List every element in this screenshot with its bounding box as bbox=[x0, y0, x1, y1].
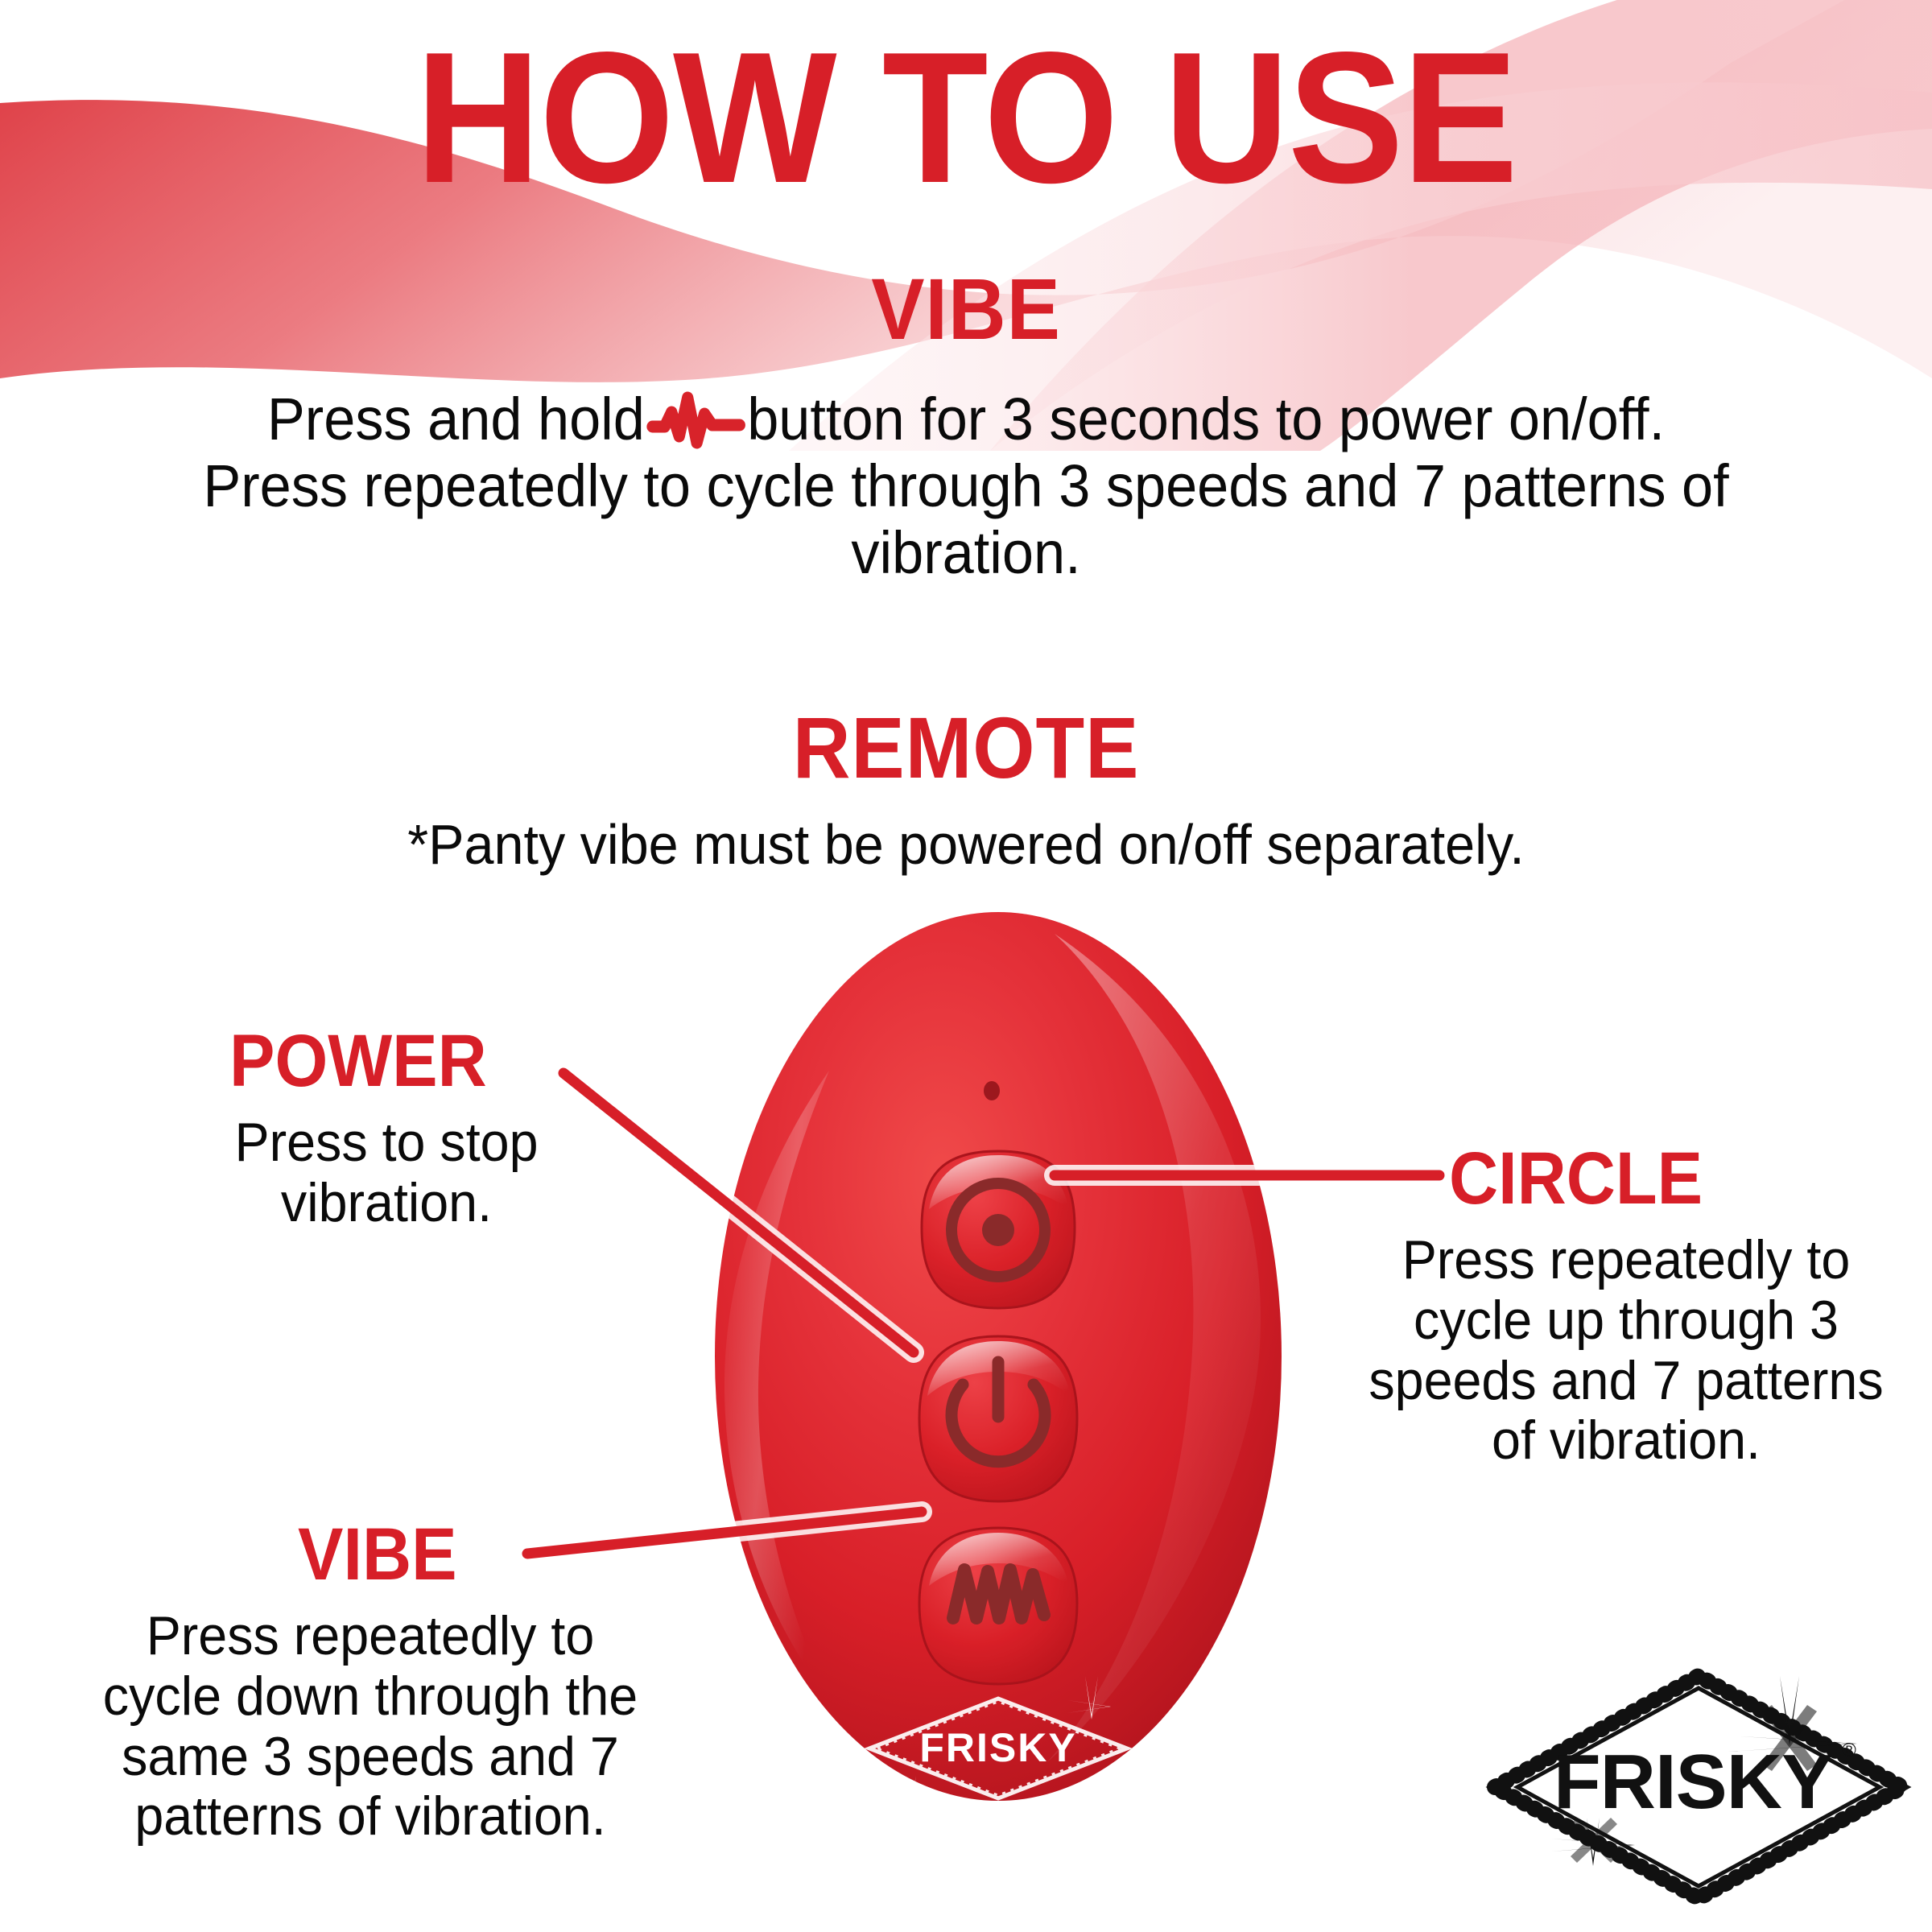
section-note-remote: *Panty vibe must be powered on/off separ… bbox=[278, 813, 1654, 876]
callout-body-power: Press to stop vibration. bbox=[172, 1113, 601, 1233]
section-heading-vibe: VIBE bbox=[77, 266, 1855, 353]
vibe-text-before-icon: Press and hold bbox=[267, 386, 645, 452]
brand-logo: FRISKY ® bbox=[1485, 1658, 1912, 1916]
device-brand-label: FRISKY bbox=[919, 1725, 1076, 1770]
how-to-use-infographic: HOW TO USE VIBE Press and hold button fo… bbox=[0, 0, 1932, 1932]
power-button[interactable] bbox=[919, 1336, 1077, 1501]
vibration-waveform-icon bbox=[646, 390, 746, 451]
callout-body-vibe: Press repeatedly to cycle down through t… bbox=[103, 1606, 638, 1847]
circle-button[interactable] bbox=[922, 1151, 1075, 1308]
section-heading-remote: REMOTE bbox=[77, 704, 1855, 791]
led-indicator-icon bbox=[984, 1081, 1000, 1100]
callout-body-circle: Press repeatedly to cycle up through 3 s… bbox=[1351, 1230, 1901, 1471]
callout-title-power: POWER bbox=[229, 1024, 487, 1098]
callout-title-circle: CIRCLE bbox=[1449, 1141, 1703, 1216]
section-body-vibe: Press and hold button for 3 seconds to p… bbox=[201, 386, 1731, 587]
remote-control-device: FRISKY bbox=[708, 910, 1288, 1803]
vibe-button[interactable] bbox=[919, 1528, 1077, 1684]
callout-title-vibe: VIBE bbox=[298, 1517, 457, 1591]
page-title: HOW TO USE bbox=[68, 31, 1864, 206]
